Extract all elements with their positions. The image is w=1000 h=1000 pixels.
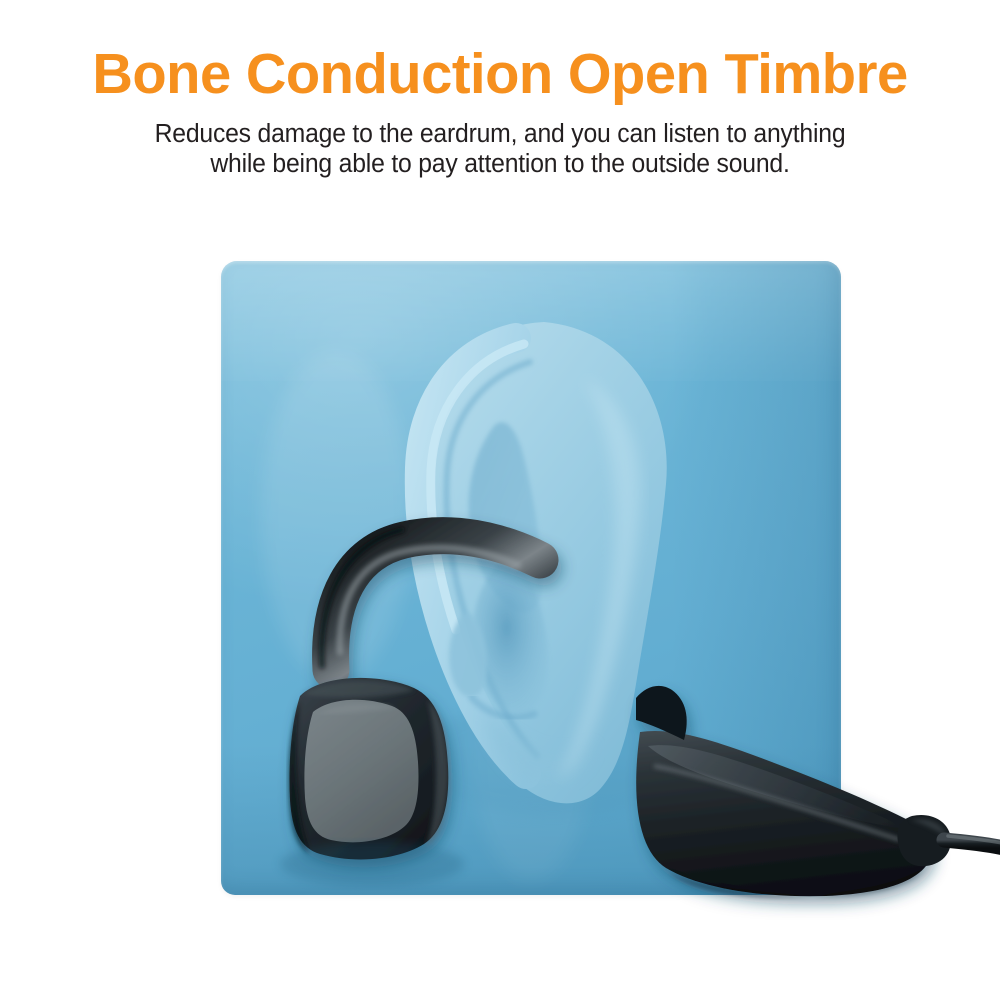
subtitle-line-1: Reduces damage to the eardrum, and you c…	[15, 119, 985, 149]
header-block: Bone Conduction Open Timbre Reduces dama…	[0, 44, 1000, 179]
page-title: Bone Conduction Open Timbre	[8, 44, 993, 104]
subtitle-line-2: while being able to pay attention to the…	[15, 149, 985, 179]
product-photo	[0, 200, 1000, 1000]
subtitle-block: Reduces damage to the eardrum, and you c…	[15, 119, 985, 179]
ear-mold	[398, 318, 698, 818]
earphone-cable	[898, 815, 1000, 866]
block-sheen-streak	[261, 351, 411, 681]
product-banner: Bone Conduction Open Timbre Reduces dama…	[0, 0, 1000, 1000]
